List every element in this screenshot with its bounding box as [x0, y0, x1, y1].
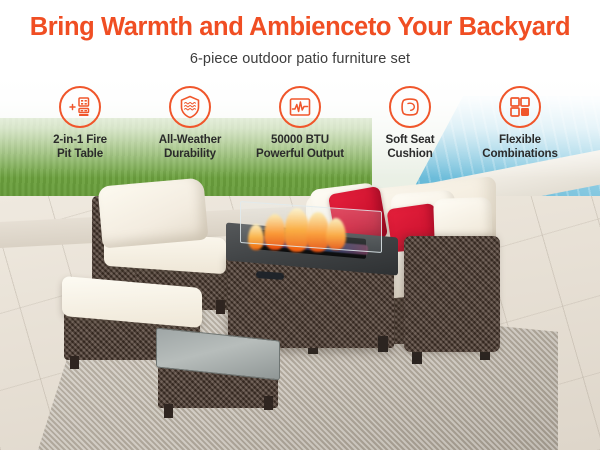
feature-label-line1: 50000 BTU [271, 133, 329, 146]
feature-icon-circle [279, 86, 321, 128]
feature-item-flexible-combinations: Flexible Combinations [465, 86, 575, 160]
ottoman-leg [70, 356, 79, 369]
feature-label: All-Weather Durability [135, 133, 245, 160]
feature-label-line2: Pit Table [57, 147, 103, 160]
modular-grid-icon [507, 94, 533, 120]
feature-icon-circle [389, 86, 431, 128]
shield-weather-icon [177, 94, 203, 120]
fire-pit-table-icon [67, 94, 93, 120]
feature-icon-circle [59, 86, 101, 128]
chair-leg [216, 300, 225, 314]
feature-label-line2: Combinations [482, 147, 558, 160]
fire-pit-leg [378, 336, 388, 352]
feature-item-all-weather: All-Weather Durability [135, 86, 245, 160]
feature-label-line1: 2-in-1 Fire [53, 133, 107, 146]
cushion-icon [397, 94, 423, 120]
feature-item-btu-output: 50000 BTU Powerful Output [245, 86, 355, 160]
feature-list: 2-in-1 Fire Pit Table All-Weather Durabi… [0, 86, 600, 160]
feature-label: 50000 BTU Powerful Output [245, 133, 355, 160]
armless-chair-back-cushion [97, 177, 208, 248]
coffee-table-leg [264, 396, 273, 410]
btu-output-icon [287, 94, 313, 120]
feature-label: Soft Seat Cushion [355, 133, 465, 160]
headline: Bring Warmth and Ambienceto Your Backyar… [0, 13, 600, 42]
coffee-table-leg [164, 404, 173, 418]
sofa-armrest [404, 236, 500, 352]
feature-icon-circle [169, 86, 211, 128]
feature-label: 2-in-1 Fire Pit Table [25, 133, 135, 160]
patio-scene-photo [0, 0, 600, 450]
subtitle: 6-piece outdoor patio furniture set [0, 51, 600, 67]
feature-label-line1: Flexible [499, 133, 541, 146]
feature-item-soft-cushion: Soft Seat Cushion [355, 86, 465, 160]
banner-header: Bring Warmth and Ambienceto Your Backyar… [0, 0, 600, 67]
feature-item-fire-pit-table: 2-in-1 Fire Pit Table [25, 86, 135, 160]
feature-label-line2: Powerful Output [256, 147, 344, 160]
feature-label-line1: All-Weather [159, 133, 222, 146]
feature-icon-circle [499, 86, 541, 128]
product-banner: Bring Warmth and Ambienceto Your Backyar… [0, 0, 600, 450]
feature-label: Flexible Combinations [465, 133, 575, 160]
feature-label-line2: Durability [164, 147, 216, 160]
feature-label-line1: Soft Seat [386, 133, 435, 146]
feature-label-line2: Cushion [387, 147, 432, 160]
